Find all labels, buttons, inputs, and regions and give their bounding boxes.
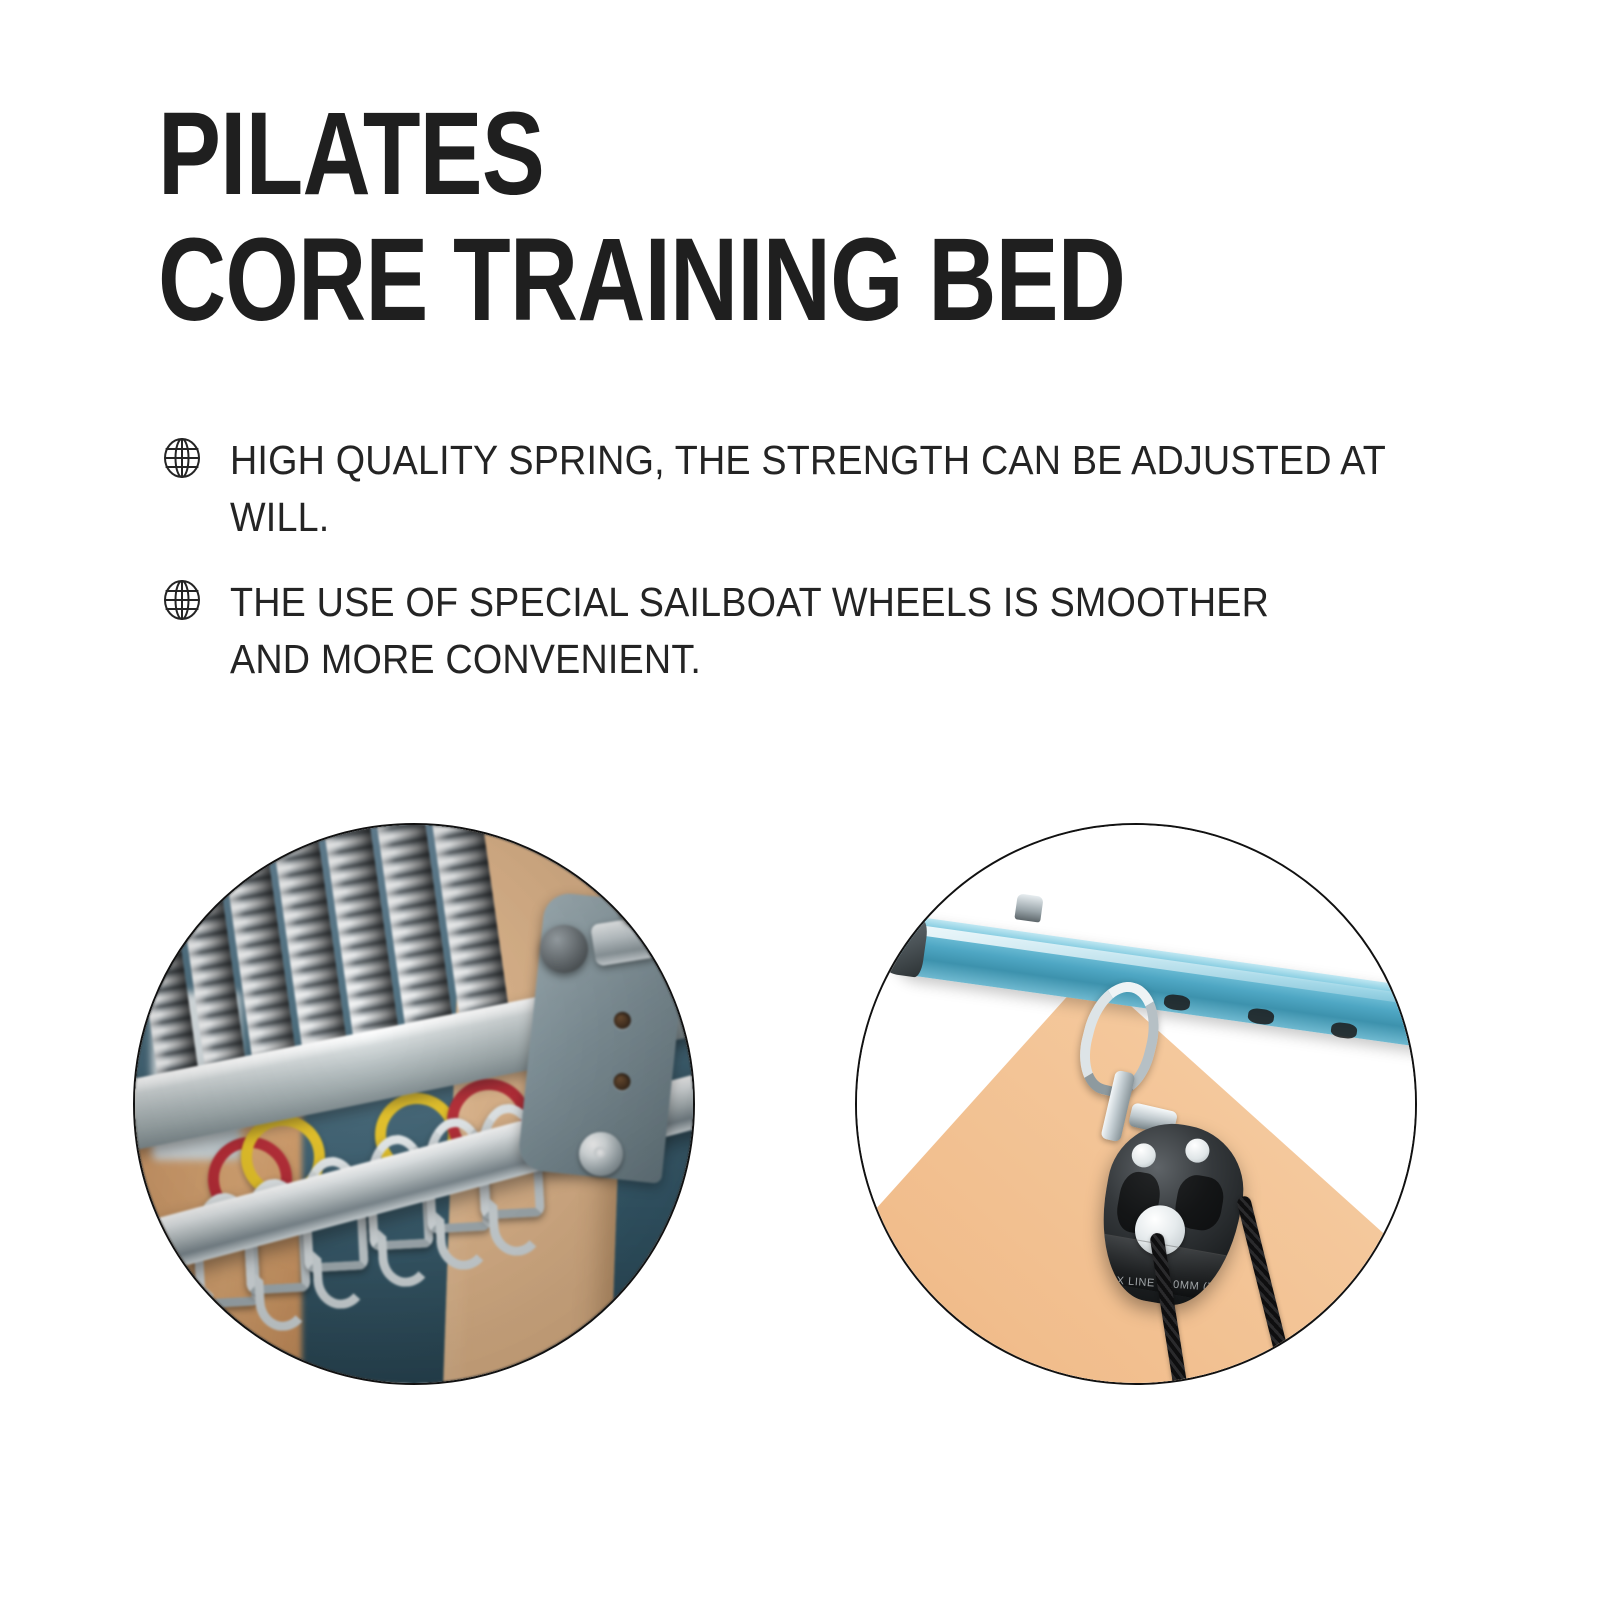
feature-item-1: HIGH QUALITY SPRING, THE STRENGTH CAN BE… <box>160 432 1500 546</box>
pivot-knob <box>540 925 588 973</box>
globe-icon <box>160 578 204 622</box>
bolt-head <box>620 898 646 924</box>
spring-and-hooks-photo <box>133 823 695 1385</box>
pulley-scene: MAX LINE - 10MM (7/16) <box>857 825 1415 1383</box>
rail-fitting <box>1014 893 1043 922</box>
pulley-rivet <box>1129 1141 1157 1169</box>
bolt-head <box>579 1132 623 1176</box>
title-line-2: CORE TRAINING BED <box>158 222 1198 338</box>
page-title: PILATES CORE TRAINING BED <box>158 96 1458 338</box>
feature-list: HIGH QUALITY SPRING, THE STRENGTH CAN BE… <box>160 432 1500 716</box>
feature-text-1: HIGH QUALITY SPRING, THE STRENGTH CAN BE… <box>230 432 1398 546</box>
globe-icon <box>160 436 204 480</box>
pulley-rivet <box>1183 1136 1211 1164</box>
feature-item-2: THE USE OF SPECIAL SAILBOAT WHEELS IS SM… <box>160 574 1500 688</box>
feature-text-2: THE USE OF SPECIAL SAILBOAT WHEELS IS SM… <box>230 574 1269 688</box>
title-line-1: PILATES <box>158 96 1198 212</box>
sailboat-pulley-photo: MAX LINE - 10MM (7/16) <box>855 823 1417 1385</box>
spring-scene <box>135 825 693 1383</box>
